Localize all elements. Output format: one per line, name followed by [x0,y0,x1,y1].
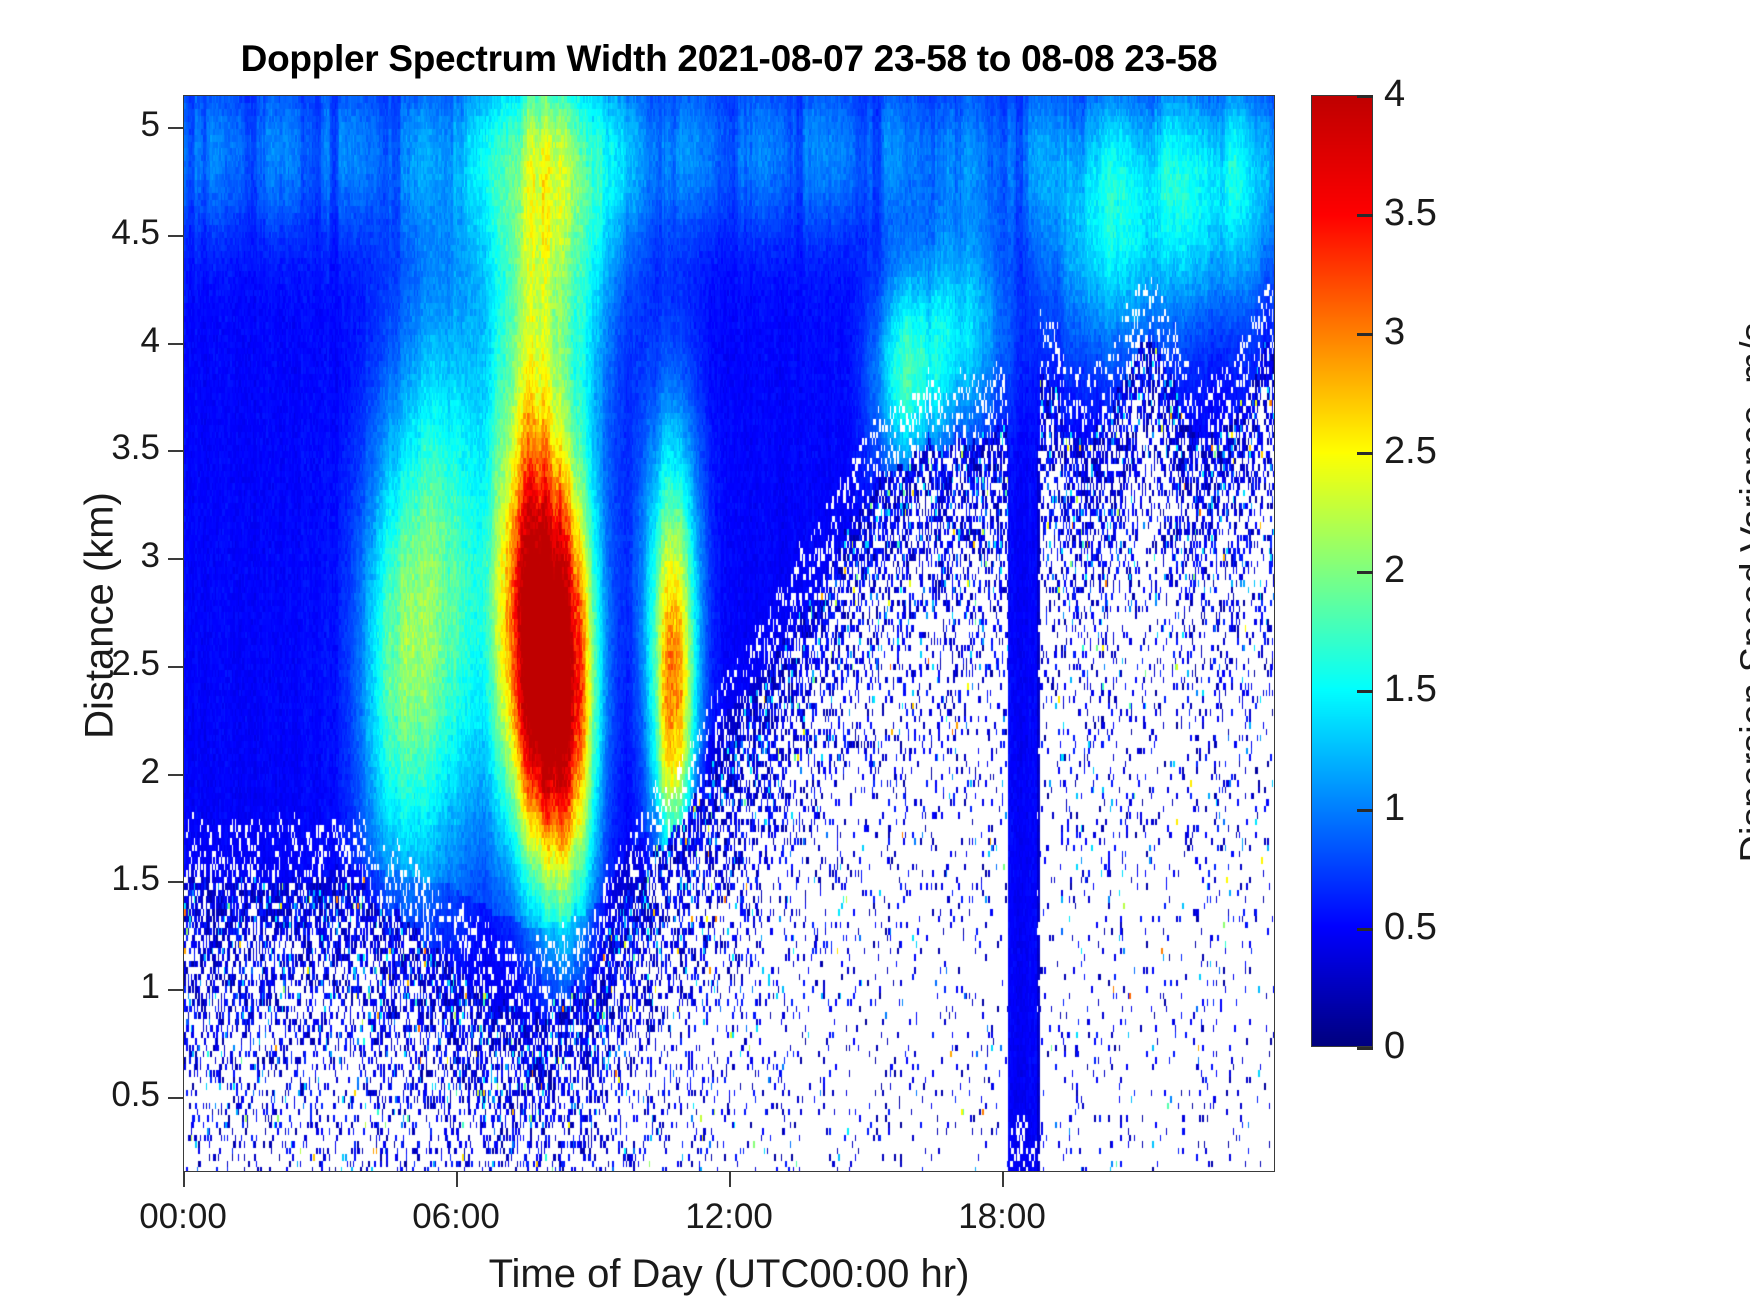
y-tick-label: 0.5 [40,1077,160,1117]
y-tick-label: 1.5 [40,861,160,901]
x-tick-label: 00:00 [73,1196,293,1242]
colorbar-tick-label: 0.5 [1384,906,1534,950]
y-axis-label: Distance (km) [78,406,123,826]
y-tick-mark [168,558,183,560]
colorbar-tick-mark [1357,690,1373,693]
colorbar-tick-label: 3 [1384,311,1534,355]
colorbar-tick-label: 4 [1384,73,1534,117]
colorbar-label: Dispersion Speed Variance, m/s [1734,143,1750,1043]
y-tick-mark [168,127,183,129]
x-tick-mark [1002,1172,1004,1187]
y-tick-mark [168,666,183,668]
x-tick-label: 12:00 [619,1196,839,1242]
x-tick-label: 06:00 [346,1196,566,1242]
page-title: Doppler Spectrum Width 2021-08-07 23-58 … [183,38,1275,80]
y-tick-label: 5 [40,107,160,147]
colorbar-tick-mark [1357,928,1373,931]
y-tick-mark [168,343,183,345]
colorbar-tick-mark [1357,333,1373,336]
colorbar-tick-label: 1.5 [1384,668,1534,712]
colorbar-tick-mark [1357,1047,1373,1050]
figure-canvas: Doppler Spectrum Width 2021-08-07 23-58 … [0,0,1750,1313]
colorbar-tick-mark [1357,214,1373,217]
y-tick-mark [168,774,183,776]
colorbar-tick-label: 1 [1384,787,1534,831]
colorbar-tick-label: 3.5 [1384,192,1534,236]
x-tick-mark [183,1172,185,1187]
y-tick-mark [168,1097,183,1099]
x-tick-mark [729,1172,731,1187]
y-tick-mark [168,235,183,237]
x-axis-label: Time of Day (UTC00:00 hr) [183,1252,1275,1297]
colorbar-tick-mark [1357,452,1373,455]
y-tick-label: 4 [40,323,160,363]
colorbar-tick-mark [1357,95,1373,98]
colorbar-tick-mark [1357,571,1373,574]
y-tick-mark [168,989,183,991]
colorbar-tick-label: 0 [1384,1025,1534,1069]
heatmap-image [184,96,1275,1172]
x-tick-mark [456,1172,458,1187]
colorbar-tick-mark [1357,809,1373,812]
x-tick-label: 18:00 [892,1196,1112,1242]
y-tick-mark [168,881,183,883]
colorbar-tick-label: 2.5 [1384,430,1534,474]
colorbar-tick-label: 2 [1384,549,1534,593]
y-tick-label: 1 [40,969,160,1009]
y-tick-label: 4.5 [40,215,160,255]
y-tick-mark [168,450,183,452]
heatmap-axes[interactable] [183,95,1275,1172]
